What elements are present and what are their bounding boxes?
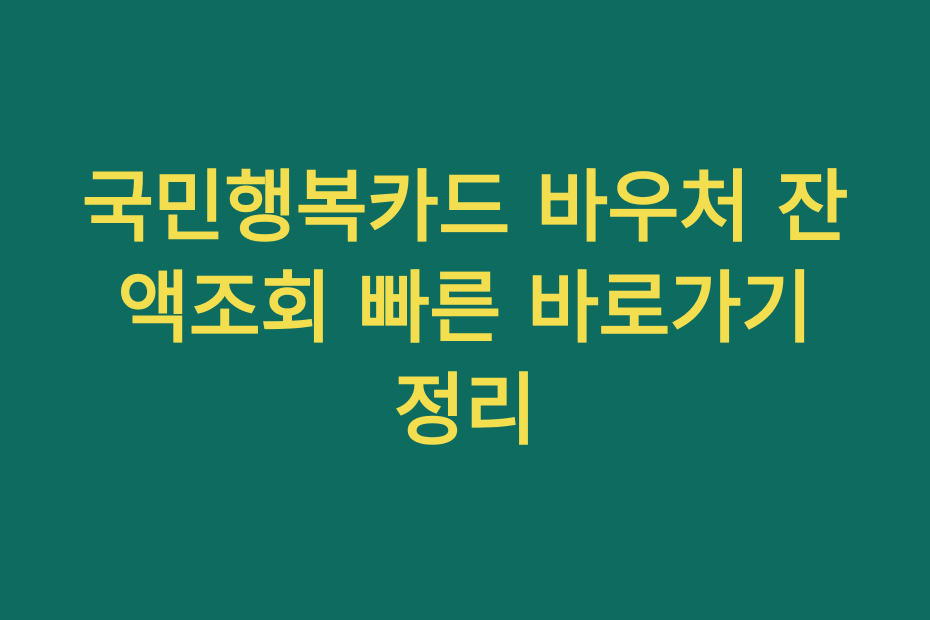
- headline-text-block: 국민행복카드 바우처 잔 액조회 빠른 바로가기 정리: [0, 158, 930, 462]
- thumbnail-canvas: 국민행복카드 바우처 잔 액조회 빠른 바로가기 정리: [0, 0, 930, 620]
- headline-line-2: 액조회 빠른 바로가기: [24, 259, 906, 360]
- headline-line-1: 국민행복카드 바우처 잔: [24, 158, 906, 259]
- headline-line-3: 정리: [24, 361, 906, 462]
